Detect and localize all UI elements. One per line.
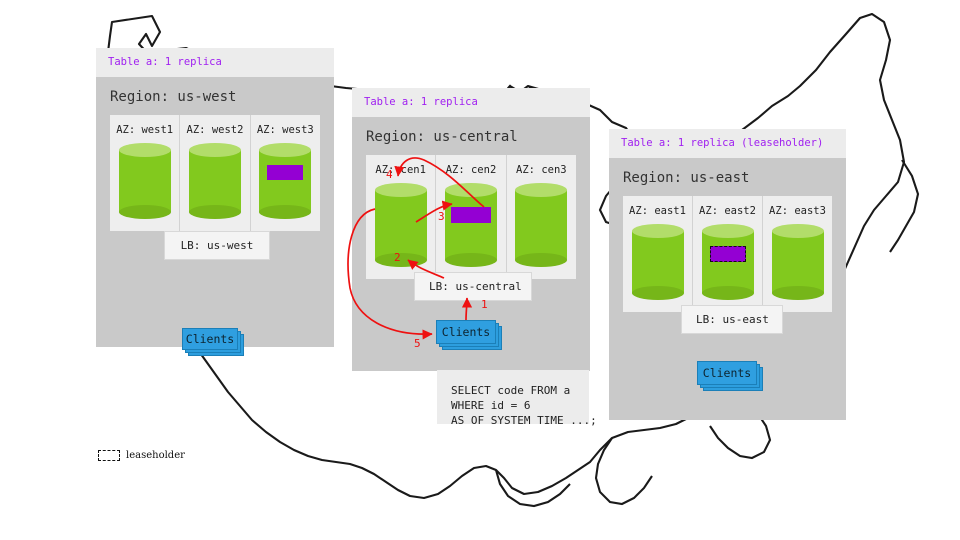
az-label-cen3: AZ: cen3 [507,164,576,176]
clients-label-us-west: Clients [182,328,238,350]
sql-query-box: SELECT code FROM a WHERE id = 6 AS OF SY… [437,370,589,424]
cylinder-body [772,231,824,293]
az-east2[interactable]: AZ: east2 [693,196,763,312]
node-cylinder-west3[interactable] [259,143,311,219]
region-label-us-east: Region: us-east [609,158,846,196]
clients-us-central[interactable]: Clients [436,320,502,350]
range-replica-cen2[interactable] [451,207,491,223]
panel-title-us-central: Table a: 1 replica [352,88,590,117]
cylinder-top [632,224,684,238]
az-strip-us-west: AZ: west1 AZ: west2 AZ: west3 [110,115,320,231]
cylinder-top [259,143,311,157]
cylinder-bottom [445,253,497,267]
az-label-east1: AZ: east1 [623,205,692,217]
cylinder-body [515,190,567,260]
az-label-west1: AZ: west1 [110,124,179,136]
load-balancer-us-central[interactable]: LB: us-central [414,272,532,301]
range-replica-leaseholder-east2[interactable] [710,246,746,262]
cylinder-top [772,224,824,238]
region-panel-us-east: Table a: 1 replica (leaseholder) Region:… [609,129,846,420]
node-cylinder-east3[interactable] [772,224,824,300]
panel-title-us-west: Table a: 1 replica [96,48,334,77]
clients-label-us-east: Clients [697,361,757,385]
leaseholder-swatch-icon [98,450,120,461]
cylinder-body [632,231,684,293]
az-label-cen2: AZ: cen2 [436,164,505,176]
diagram-canvas: Table a: 1 replica Region: us-west AZ: w… [0,0,960,540]
clients-us-east[interactable]: Clients [697,361,763,391]
cylinder-bottom [702,286,754,300]
az-west2[interactable]: AZ: west2 [180,115,250,231]
flow-step-number-2: 2 [394,251,401,264]
range-replica-west3[interactable] [267,165,303,180]
node-cylinder-east1[interactable] [632,224,684,300]
az-label-cen1: AZ: cen1 [366,164,435,176]
legend-leaseholder: leaseholder [98,450,185,461]
legend-label: leaseholder [126,450,185,461]
az-cen3[interactable]: AZ: cen3 [507,155,576,279]
region-panel-us-central: Table a: 1 replica Region: us-central AZ… [352,88,590,371]
cylinder-body [119,150,171,212]
clients-label-us-central: Clients [436,320,496,344]
az-label-west3: AZ: west3 [251,124,320,136]
cylinder-bottom [632,286,684,300]
az-label-west2: AZ: west2 [180,124,249,136]
flow-step-number-4: 4 [386,168,393,181]
node-cylinder-east2[interactable] [702,224,754,300]
cylinder-body [702,231,754,293]
cylinder-bottom [119,205,171,219]
az-label-east2: AZ: east2 [693,205,762,217]
az-strip-us-east: AZ: east1 AZ: east2 AZ: east3 [623,196,832,312]
cylinder-bottom [189,205,241,219]
load-balancer-us-west[interactable]: LB: us-west [164,231,270,260]
cylinder-body [445,190,497,260]
cylinder-bottom [259,205,311,219]
az-east1[interactable]: AZ: east1 [623,196,693,312]
cylinder-top [515,183,567,197]
cylinder-body [375,190,427,260]
node-cylinder-west2[interactable] [189,143,241,219]
az-label-east3: AZ: east3 [763,205,832,217]
az-east3[interactable]: AZ: east3 [763,196,832,312]
cylinder-top [702,224,754,238]
panel-title-us-east: Table a: 1 replica (leaseholder) [609,129,846,158]
cylinder-top [119,143,171,157]
cylinder-body [259,150,311,212]
node-cylinder-cen2[interactable] [445,183,497,267]
cylinder-top [189,143,241,157]
flow-step-number-5: 5 [414,337,421,350]
az-cen2[interactable]: AZ: cen2 [436,155,506,279]
node-cylinder-cen3[interactable] [515,183,567,267]
cylinder-top [445,183,497,197]
cylinder-body [189,150,241,212]
region-label-us-west: Region: us-west [96,77,334,115]
flow-step-number-3: 3 [438,210,445,223]
cylinder-bottom [515,253,567,267]
load-balancer-us-east[interactable]: LB: us-east [681,305,783,334]
node-cylinder-west1[interactable] [119,143,171,219]
az-west3[interactable]: AZ: west3 [251,115,320,231]
cylinder-top [375,183,427,197]
clients-us-west[interactable]: Clients [182,328,244,356]
cylinder-bottom [772,286,824,300]
flow-step-number-1: 1 [481,298,488,311]
cylinder-bottom [375,253,427,267]
region-panel-us-west: Table a: 1 replica Region: us-west AZ: w… [96,48,334,347]
az-west1[interactable]: AZ: west1 [110,115,180,231]
az-cen1[interactable]: AZ: cen1 [366,155,436,279]
region-label-us-central: Region: us-central [352,117,590,155]
node-cylinder-cen1[interactable] [375,183,427,267]
